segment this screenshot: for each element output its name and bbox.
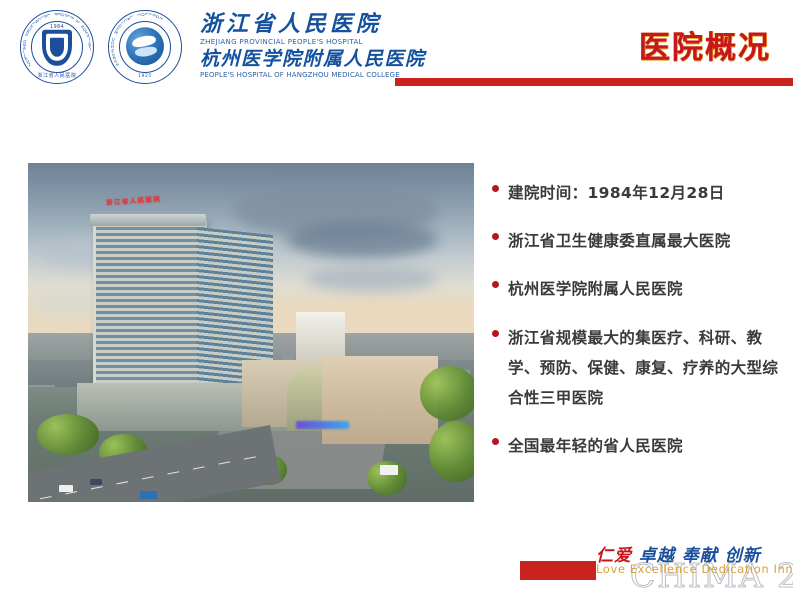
motto-english: Love Excellence Dedication Innovation — [596, 562, 793, 576]
wordmark: 浙江省人民医院 ZHEJIANG PROVINCIAL PEOPLE'S HOS… — [200, 13, 426, 80]
seal2-year: 1925 — [138, 74, 152, 79]
list-item: 建院时间：1984年12月28日 — [492, 178, 782, 208]
bullet-text: 杭州医学院附属人民医院 — [508, 274, 683, 304]
bullet-dot-icon — [492, 281, 499, 288]
bullet-text: 全国最年轻的省人民医院 — [508, 431, 683, 461]
tree-cluster — [429, 421, 474, 482]
list-item: 杭州医学院附属人民医院 — [492, 274, 782, 304]
bullet-text: 浙江省规模最大的集医疗、科研、教学、预防、保健、康复、疗养的大型综合性三甲医院 — [508, 323, 782, 414]
dolphin-mark-icon — [126, 27, 164, 65]
bullet-text: 浙江省卫生健康委直属最大医院 — [508, 226, 731, 256]
bullet-dot-icon — [492, 438, 499, 445]
bullet-list: 建院时间：1984年12月28日 浙江省卫生健康委直属最大医院 杭州医学院附属人… — [492, 178, 782, 480]
footer-accent-bar — [520, 561, 596, 580]
header-divider — [395, 78, 793, 86]
wordmark-line1-cn: 浙江省人民医院 — [200, 13, 426, 37]
tree-cluster — [420, 366, 474, 420]
vehicle — [140, 491, 158, 499]
wordmark-line2-en: PEOPLE'S HOSPITAL OF HANGZHOU MEDICAL CO… — [200, 71, 426, 79]
seal-arc-chinese: 浙江省人民医院 — [37, 72, 76, 79]
cloud-shape — [287, 221, 439, 258]
list-item: 浙江省规模最大的集医疗、科研、教学、预防、保健、康复、疗养的大型综合性三甲医院 — [492, 323, 782, 414]
wordmark-line1-en: ZHEJIANG PROVINCIAL PEOPLE'S HOSPITAL — [200, 38, 426, 46]
medical-college-seal-logo: HANGZHOU MEDICAL COLLEGE 1925 — [106, 8, 184, 86]
vehicle — [59, 485, 73, 492]
hospital-campus-photo: 浙江省人民医院 — [28, 163, 474, 502]
cloud-shape — [305, 265, 439, 292]
slide-canvas: ZHEJIANG PROVINCIAL PEOPLE'S HOSPITAL 19… — [0, 0, 793, 595]
wordmark-line2-cn: 杭州医学院附属人民医院 — [200, 49, 426, 70]
list-item: 全国最年轻的省人民医院 — [492, 431, 782, 461]
hospital-seal-logo: ZHEJIANG PROVINCIAL PEOPLE'S HOSPITAL 19… — [18, 8, 96, 86]
photo-neon-strip — [296, 421, 350, 429]
bullet-dot-icon — [492, 330, 499, 337]
photo-tower-crown — [90, 214, 206, 226]
bullet-dot-icon — [492, 233, 499, 240]
bullet-text: 建院时间：1984年12月28日 — [508, 178, 725, 208]
list-item: 浙江省卫生健康委直属最大医院 — [492, 226, 782, 256]
branding-logo-row: ZHEJIANG PROVINCIAL PEOPLE'S HOSPITAL 19… — [18, 8, 426, 86]
bullet-dot-icon — [492, 185, 499, 192]
vehicle — [380, 465, 398, 475]
vehicle — [90, 479, 102, 485]
page-title: 医院概况 — [639, 22, 771, 67]
tree-cluster — [37, 414, 99, 455]
shield-icon — [42, 30, 72, 66]
